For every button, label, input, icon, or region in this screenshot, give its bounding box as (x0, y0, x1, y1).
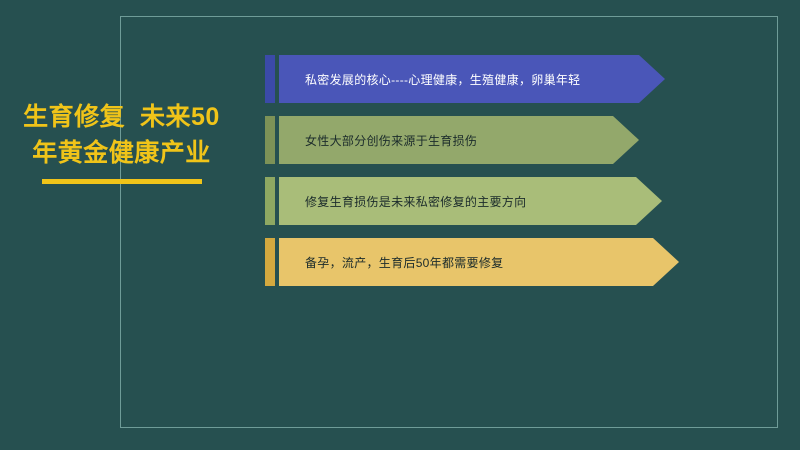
list-item: 修复生育损伤是未来私密修复的主要方向 (265, 177, 685, 225)
arrow-list: 私密发展的核心----心理健康，生殖健康，卵巢年轻 女性大部分创伤来源于生育损伤… (265, 55, 685, 299)
list-item-bar (265, 116, 275, 164)
list-item-label: 备孕，流产，生育后50年都需要修复 (279, 238, 679, 286)
list-item-bar (265, 55, 275, 103)
list-item-label: 私密发展的核心----心理健康，生殖健康，卵巢年轻 (279, 55, 665, 103)
title-block: 生育修复 未来50年黄金健康产业 (14, 100, 229, 184)
slide-canvas: 生育修复 未来50年黄金健康产业 私密发展的核心----心理健康，生殖健康，卵巢… (0, 0, 800, 450)
list-item: 私密发展的核心----心理健康，生殖健康，卵巢年轻 (265, 55, 685, 103)
list-item: 女性大部分创伤来源于生育损伤 (265, 116, 685, 164)
list-item: 备孕，流产，生育后50年都需要修复 (265, 238, 685, 286)
title-underline (42, 179, 202, 184)
list-item-label: 女性大部分创伤来源于生育损伤 (279, 116, 639, 164)
page-title: 生育修复 未来50年黄金健康产业 (14, 100, 229, 171)
list-item-label: 修复生育损伤是未来私密修复的主要方向 (279, 177, 662, 225)
list-item-bar (265, 238, 275, 286)
list-item-bar (265, 177, 275, 225)
